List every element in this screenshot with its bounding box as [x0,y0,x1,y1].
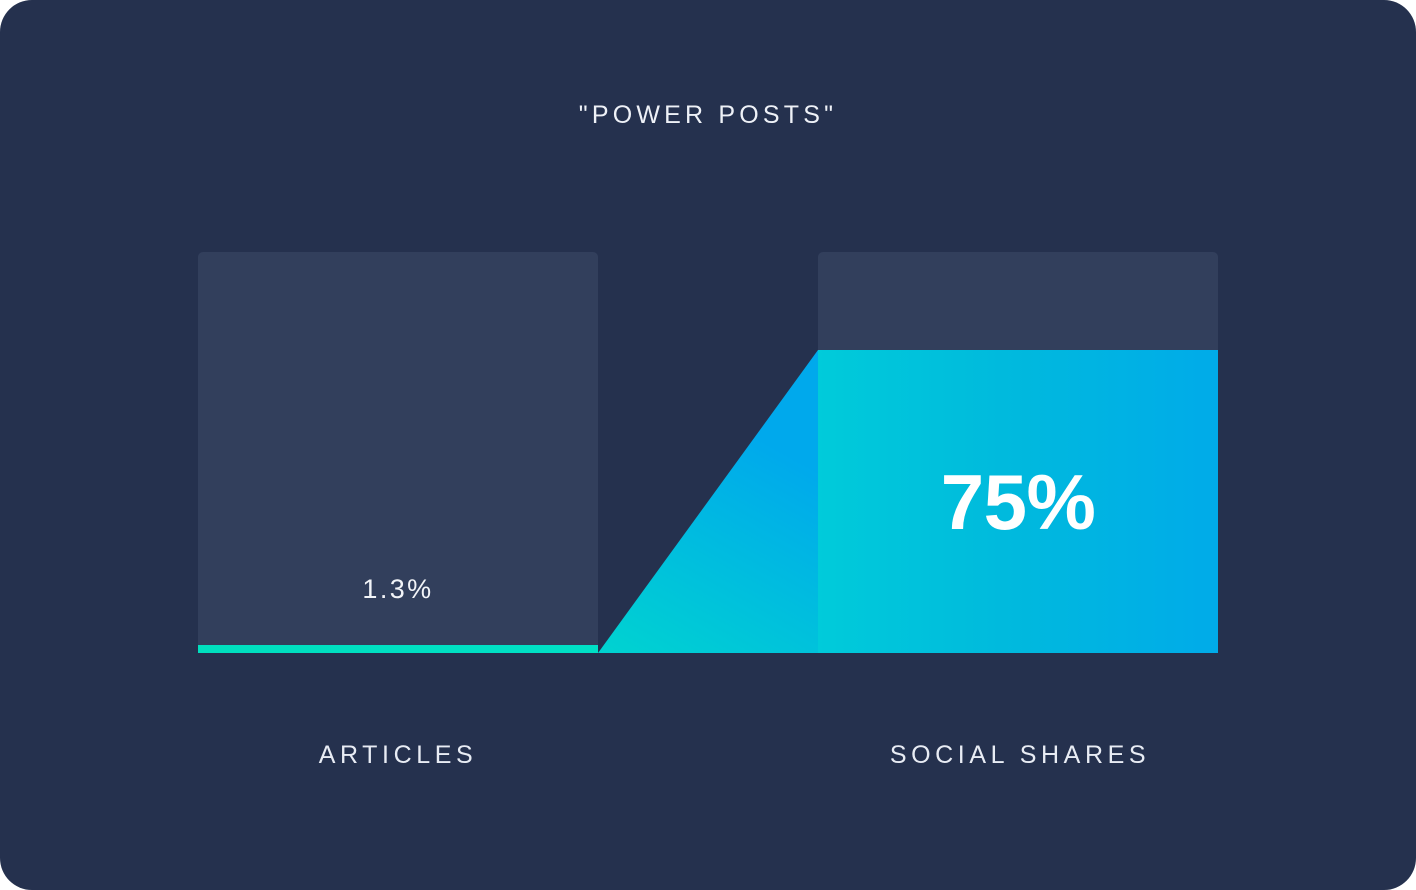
chart-card: "POWER POSTS" [0,0,1416,890]
connector-ramp [598,350,818,653]
page-title: "POWER POSTS" [0,98,1416,132]
category-label-social-shares: SOCIAL SHARES [810,738,1230,772]
bar-fill-articles [198,645,598,653]
value-label-social-shares: 75% [818,459,1218,545]
category-label-articles: ARTICLES [188,738,608,772]
value-label-articles: 1.3% [198,573,598,605]
plot-area: 1.3% 75% [198,252,1218,653]
chart-canvas: "POWER POSTS" [0,0,1416,890]
